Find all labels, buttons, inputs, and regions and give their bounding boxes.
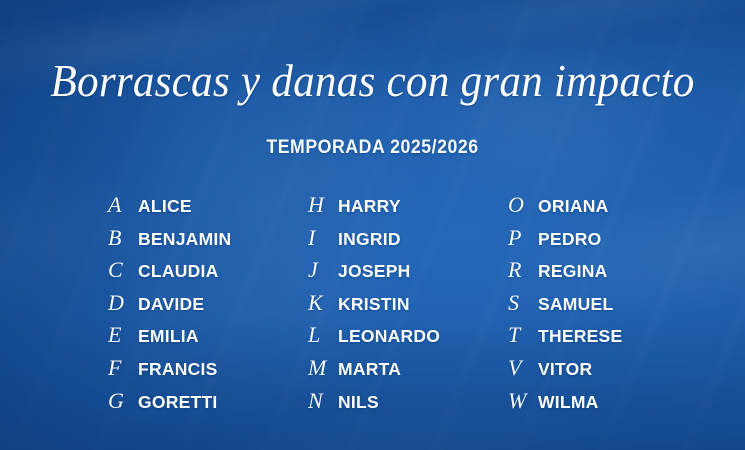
storm-name: LEONARDO [338, 328, 440, 346]
storm-name: CLAUDIA [138, 263, 219, 281]
storm-name: FRANCIS [138, 361, 218, 379]
name-column-2: H HARRY I INGRID J JOSEPH K KRISTIN L [308, 194, 508, 422]
storm-names-poster: Borrascas y danas con gran impacto TEMPO… [0, 0, 745, 450]
list-item: B BENJAMIN [108, 227, 308, 260]
storm-name: NILS [338, 394, 379, 412]
list-item: R REGINA [508, 259, 708, 292]
list-item: P PEDRO [508, 227, 708, 260]
list-item: M MARTA [308, 357, 508, 390]
storm-name: HARRY [338, 198, 401, 216]
storm-name: VITOR [538, 361, 592, 379]
list-item: G GORETTI [108, 390, 308, 423]
name-initial-letter: J [308, 259, 338, 281]
list-item: J JOSEPH [308, 259, 508, 292]
storm-name: INGRID [338, 231, 401, 249]
storm-name: KRISTIN [338, 296, 410, 314]
name-initial-letter: H [308, 194, 338, 216]
list-item: H HARRY [308, 194, 508, 227]
name-initial-letter: B [108, 227, 138, 249]
name-initial-letter: D [108, 292, 138, 314]
list-item: A ALICE [108, 194, 308, 227]
storm-name: BENJAMIN [138, 231, 231, 249]
storm-name: THERESE [538, 328, 622, 346]
list-item: L LEONARDO [308, 324, 508, 357]
name-initial-letter: I [308, 227, 338, 249]
storm-name: ORIANA [538, 198, 609, 216]
list-item: T THERESE [508, 324, 708, 357]
list-item: D DAVIDE [108, 292, 308, 325]
list-item: F FRANCIS [108, 357, 308, 390]
storm-name: ALICE [138, 198, 192, 216]
name-column-3: O ORIANA P PEDRO R REGINA S SAMUEL T T [508, 194, 708, 422]
list-item: E EMILIA [108, 324, 308, 357]
name-initial-letter: V [508, 357, 538, 379]
storm-name: GORETTI [138, 394, 218, 412]
name-initial-letter: N [308, 390, 338, 412]
name-initial-letter: W [508, 390, 538, 412]
list-item: O ORIANA [508, 194, 708, 227]
storm-name: PEDRO [538, 231, 601, 249]
list-item: K KRISTIN [308, 292, 508, 325]
name-initial-letter: K [308, 292, 338, 314]
name-initial-letter: M [308, 357, 338, 379]
name-initial-letter: S [508, 292, 538, 314]
name-initial-letter: L [308, 324, 338, 346]
list-item: W WILMA [508, 390, 708, 423]
storm-name-grid: A ALICE B BENJAMIN C CLAUDIA D DAVIDE E [0, 194, 745, 422]
storm-name: JOSEPH [338, 263, 411, 281]
name-initial-letter: E [108, 324, 138, 346]
name-initial-letter: F [108, 357, 138, 379]
storm-name: DAVIDE [138, 296, 204, 314]
storm-name: MARTA [338, 361, 401, 379]
poster-content: Borrascas y danas con gran impacto TEMPO… [0, 0, 745, 450]
name-initial-letter: P [508, 227, 538, 249]
storm-name: WILMA [538, 394, 599, 412]
storm-name: SAMUEL [538, 296, 613, 314]
season-subtitle: TEMPORADA 2025/2026 [26, 137, 719, 159]
name-initial-letter: R [508, 259, 538, 281]
storm-name: EMILIA [138, 328, 199, 346]
name-initial-letter: C [108, 259, 138, 281]
list-item: N NILS [308, 390, 508, 423]
name-column-1: A ALICE B BENJAMIN C CLAUDIA D DAVIDE E [108, 194, 308, 422]
name-initial-letter: A [108, 194, 138, 216]
storm-name: REGINA [538, 263, 608, 281]
list-item: I INGRID [308, 227, 508, 260]
name-initial-letter: T [508, 324, 538, 346]
name-initial-letter: O [508, 194, 538, 216]
page-title: Borrascas y danas con gran impacto [22, 58, 722, 104]
list-item: S SAMUEL [508, 292, 708, 325]
list-item: C CLAUDIA [108, 259, 308, 292]
list-item: V VITOR [508, 357, 708, 390]
name-initial-letter: G [108, 390, 138, 412]
